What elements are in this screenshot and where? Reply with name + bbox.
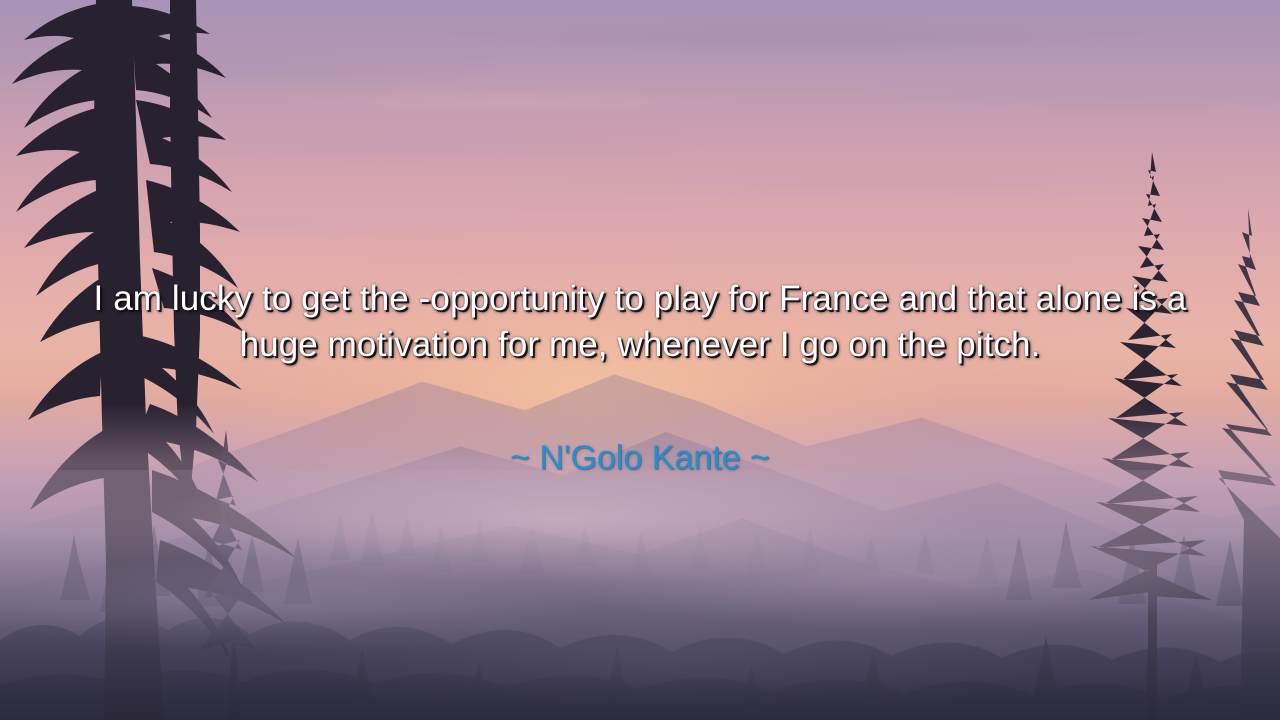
quote-image-canvas: I am lucky to get the -opportunity to pl…	[0, 0, 1280, 720]
quote-text: I am lucky to get the -opportunity to pl…	[92, 276, 1188, 368]
quote-block: I am lucky to get the -opportunity to pl…	[0, 276, 1280, 368]
quote-attribution: ~ N'Golo Kante ~	[0, 437, 1280, 479]
